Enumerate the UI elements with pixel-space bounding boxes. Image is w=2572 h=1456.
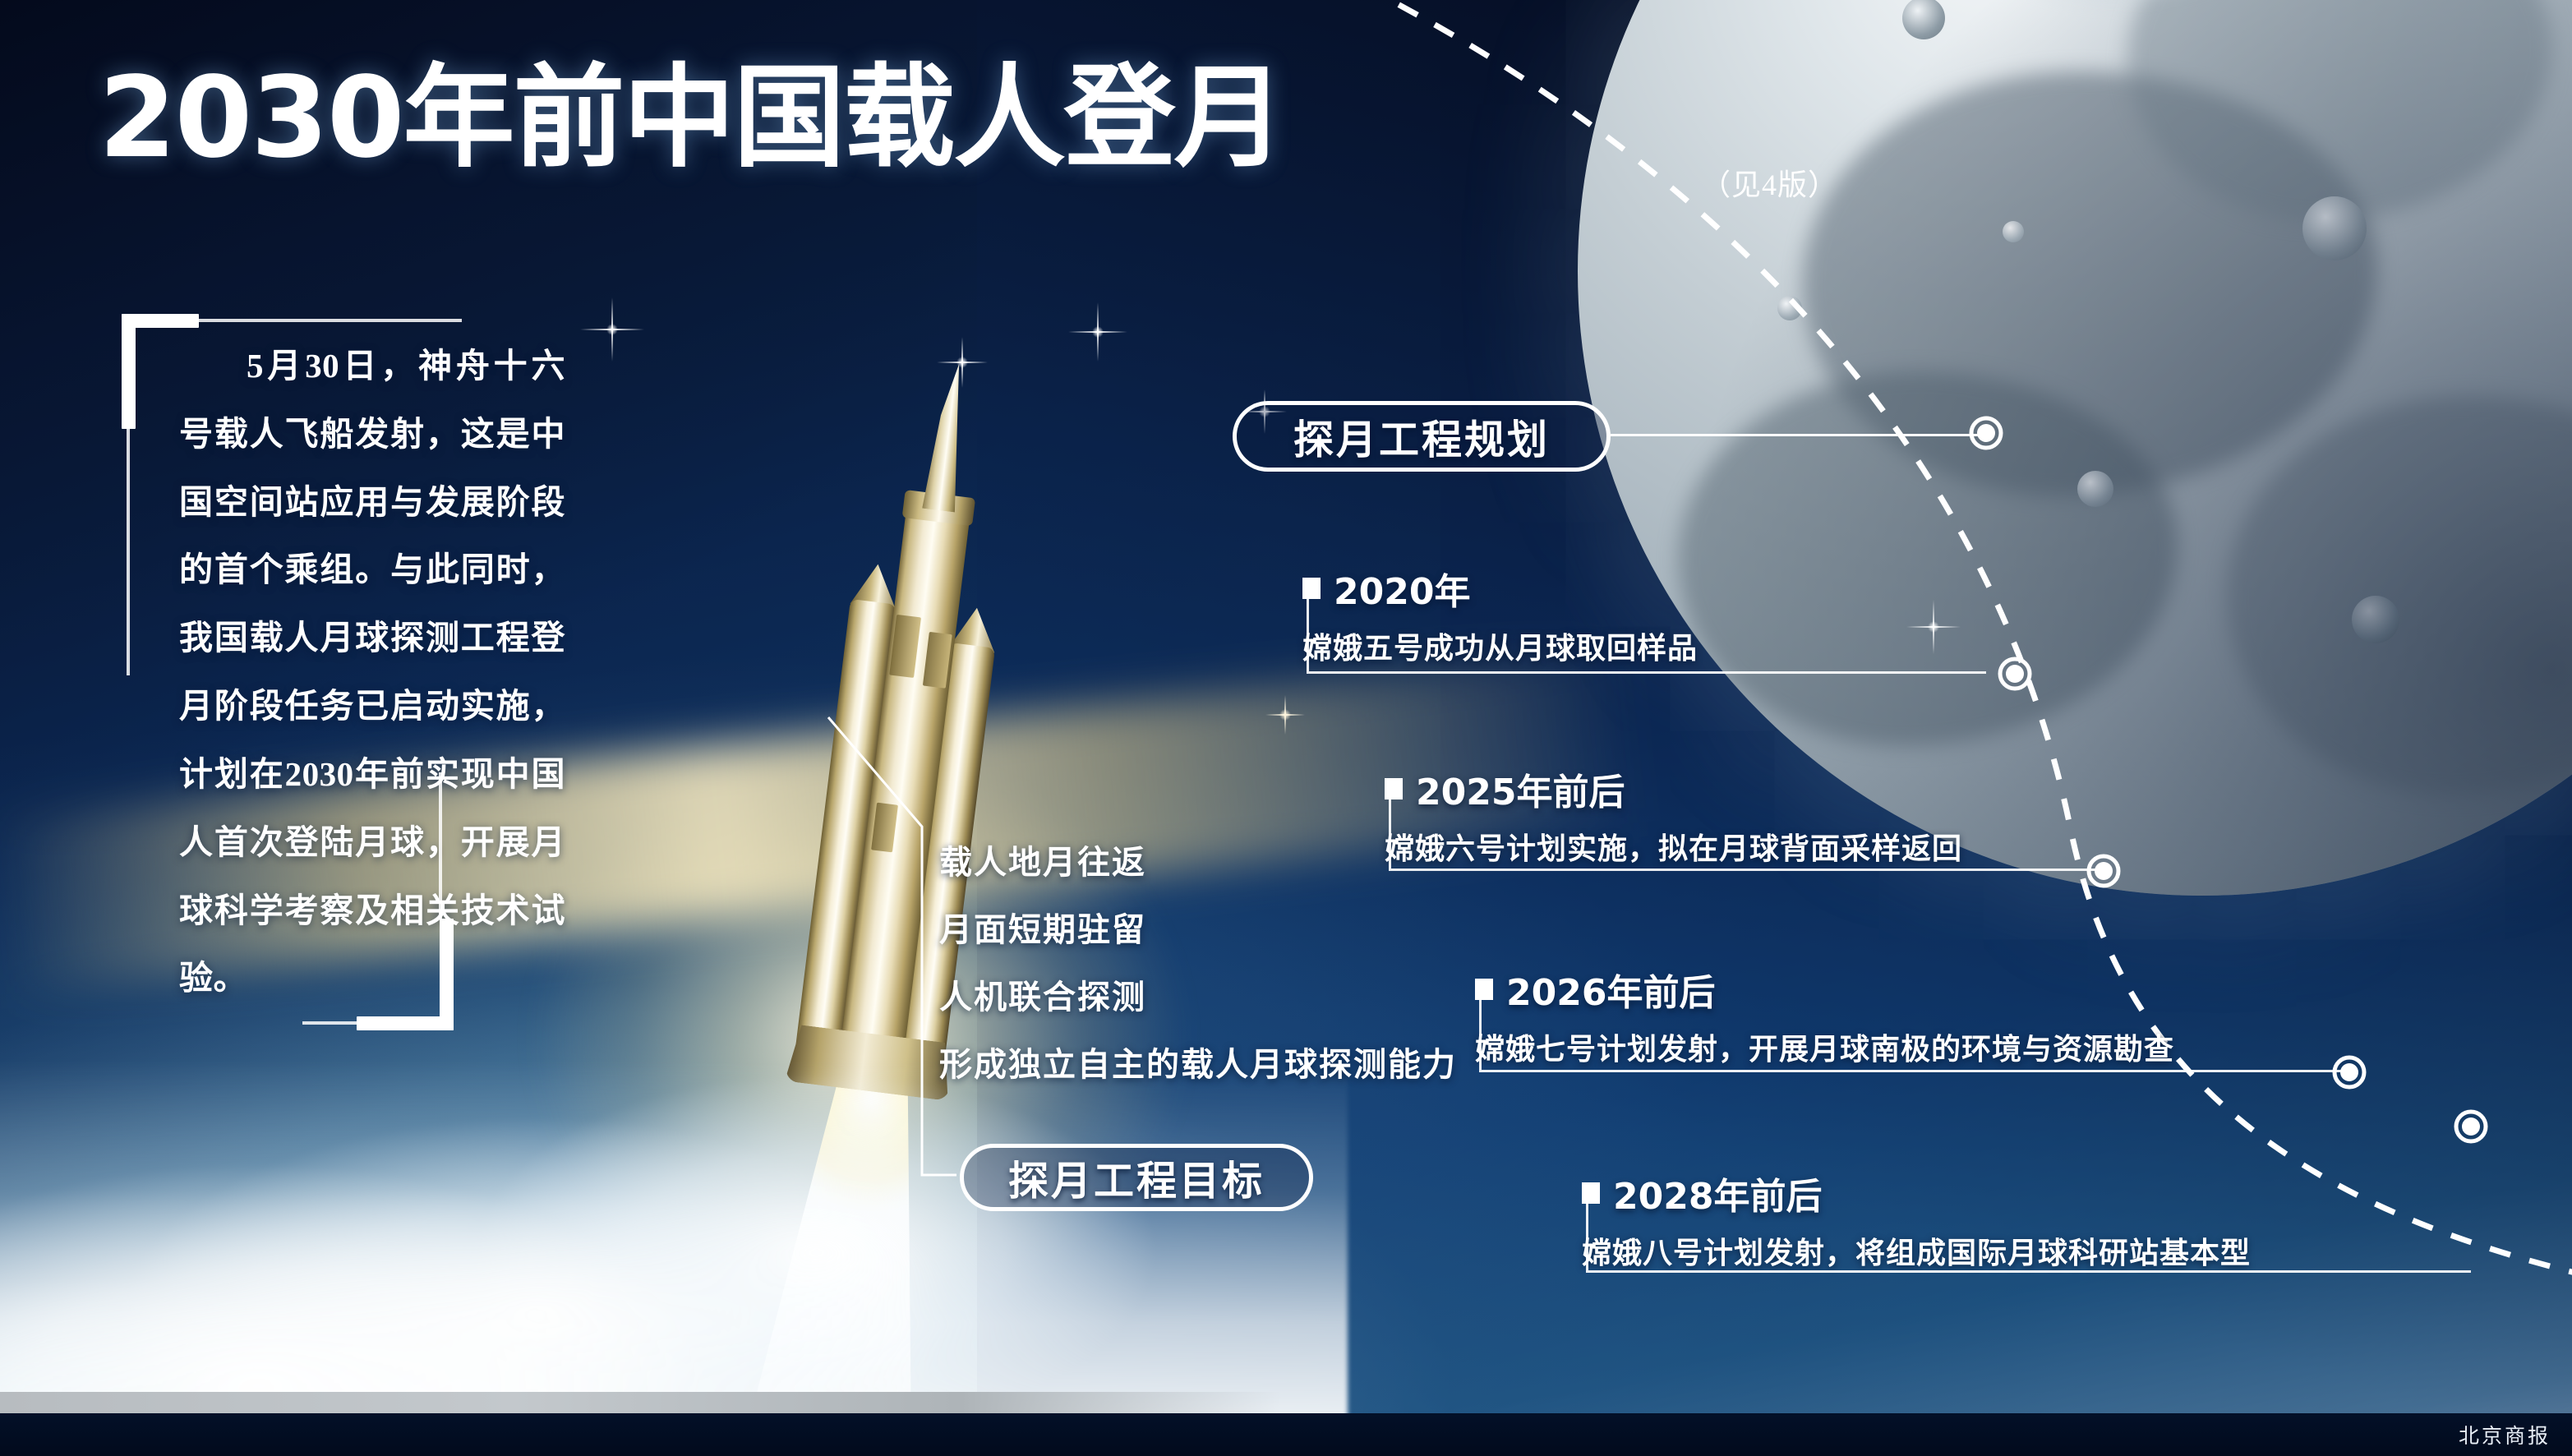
goal-item: 人机联合探测 xyxy=(939,981,1457,1014)
plan-pill-label[interactable]: 探月工程规划 xyxy=(1233,401,1611,472)
title-reference-note: （见4版） xyxy=(1701,161,1838,204)
moon-mare xyxy=(2227,396,2572,795)
milestone-2025-hook xyxy=(1389,795,2104,871)
goal-item: 形成独立自主的载人月球探测能力 xyxy=(939,1048,1457,1081)
moon-crater xyxy=(2352,596,2399,643)
moon-illustration xyxy=(1578,0,2572,896)
moon-mare xyxy=(1803,71,2377,496)
milestone-2026-hook xyxy=(1479,996,2349,1072)
goal-item: 月面短期驻留 xyxy=(939,914,1457,947)
plan-pill-connector xyxy=(1611,434,1984,436)
moon-crater xyxy=(2077,471,2113,507)
moon-mare xyxy=(2127,0,2552,221)
moon-crater xyxy=(2302,196,2367,260)
moon-crater xyxy=(2003,221,2024,242)
infographic-poster: 2030年前中国载人登月 （见4版） 5月30日，神舟十六号载人飞船发射，这是中… xyxy=(0,0,2572,1456)
bracket-bottom-right xyxy=(345,772,509,1044)
milestone-2020-hook xyxy=(1307,595,1986,674)
footer-credit: 北京商报 xyxy=(2459,1420,2551,1449)
moon-sphere xyxy=(1578,0,2572,896)
goal-item: 载人地月往返 xyxy=(939,846,1457,879)
milestone-2028-hook xyxy=(1586,1200,2471,1273)
moon-crater xyxy=(1902,0,1945,39)
page-title: 2030年前中国载人登月 xyxy=(99,62,1284,174)
moon-mare xyxy=(1678,371,2178,746)
bottom-grey-strip xyxy=(0,1392,1282,1413)
goals-list: 载人地月往返 月面短期驻留 人机联合探测 形成独立自主的载人月球探测能力 xyxy=(939,846,1457,1116)
footer-bar: 北京商报 xyxy=(0,1413,2572,1456)
goals-pill-label[interactable]: 探月工程目标 xyxy=(960,1144,1313,1211)
moon-crater xyxy=(1777,296,1802,320)
